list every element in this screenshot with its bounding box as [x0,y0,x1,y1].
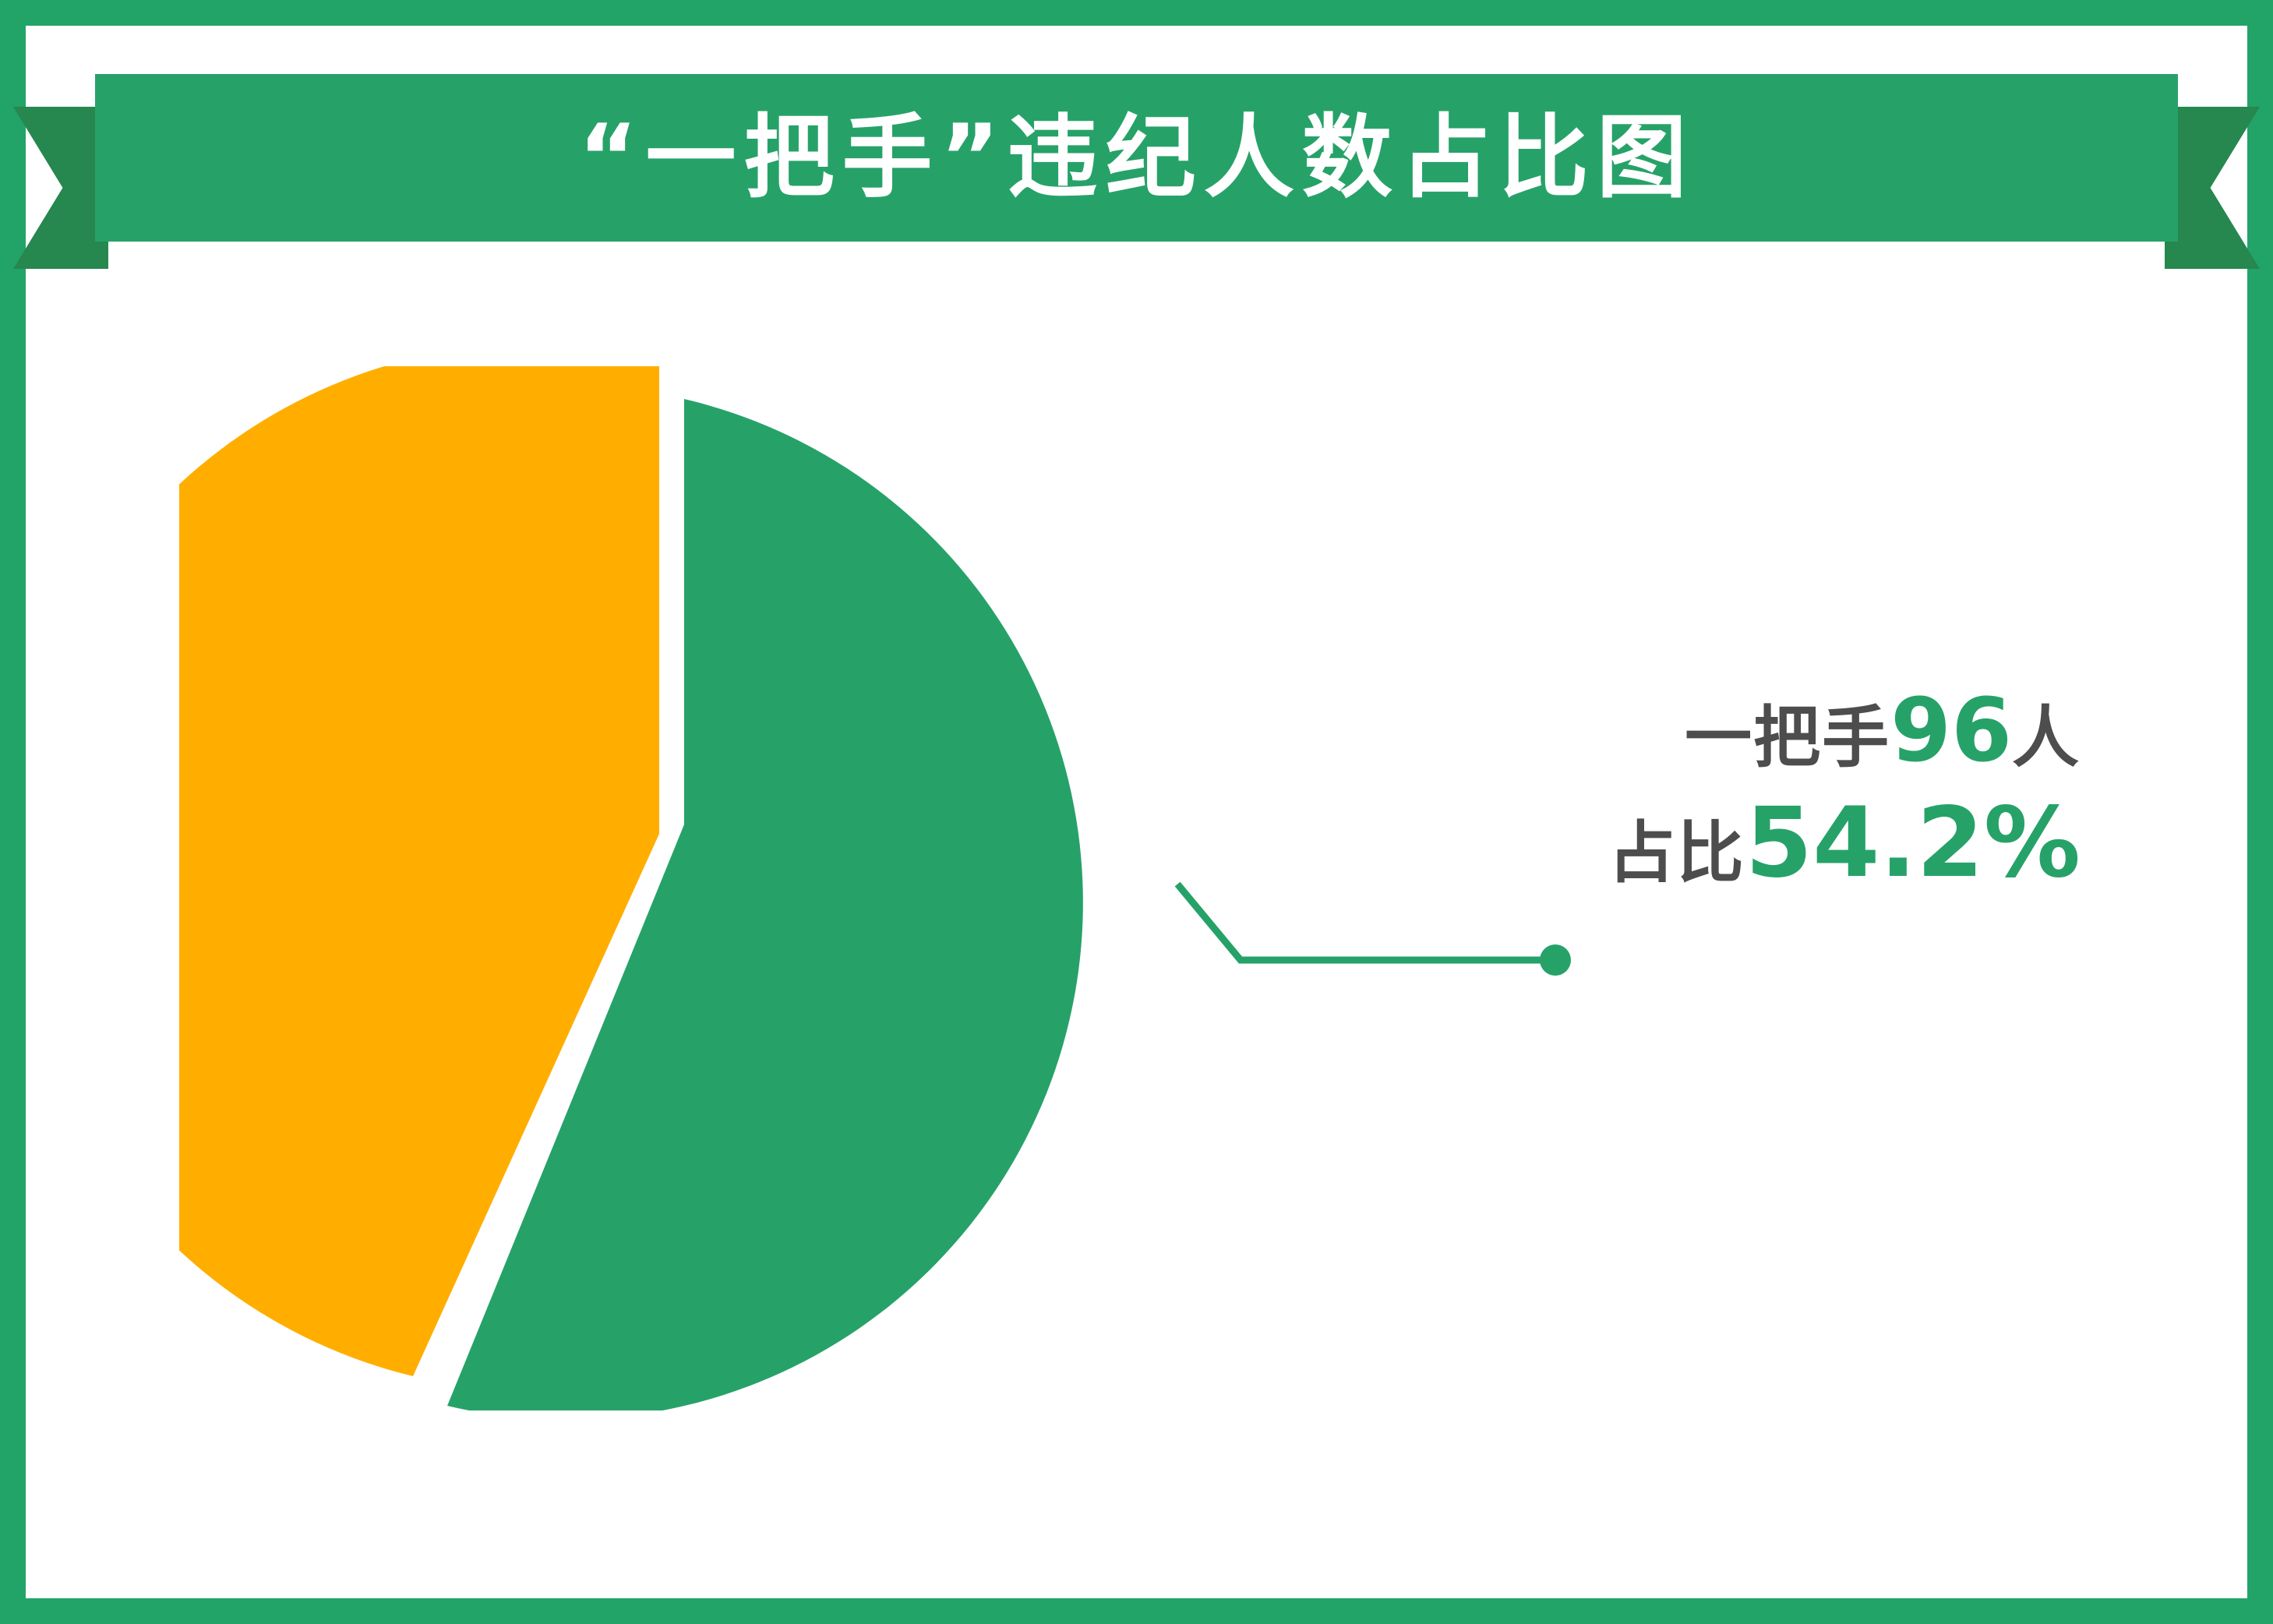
frame-border-right [2247,0,2273,1624]
leader-endpoint-dot [1540,944,1571,976]
pie-chart [179,366,1208,1410]
callout-percent-label: 占比 [1608,814,1745,892]
infographic-page: “一把手”违纪人数占比图 一把手96人 占比54.2% [0,0,2273,1624]
frame-border-bottom [0,1598,2273,1624]
callout-block: 一把手96人 占比54.2% [1597,686,2081,894]
callout-percent-unit: % [1984,787,2081,899]
ribbon-band: “一把手”违纪人数占比图 [95,74,2178,242]
page-title: “一把手”违纪人数占比图 [578,113,1694,203]
title-ribbon: “一把手”违纪人数占比图 [95,74,2178,242]
leader-polyline [1180,887,1551,960]
callout-count-value: 96 [1890,680,2012,782]
callout-leader-line [1153,849,1590,1005]
callout-percent-value: 54.2 [1745,787,1984,899]
ribbon-tail-left-icon [13,107,108,269]
callout-row-percent: 占比54.2% [1597,793,2081,894]
ribbon-tail-right-icon [2165,107,2260,269]
callout-row-count: 一把手96人 [1597,686,2081,776]
callout-count-unit: 人 [2012,699,2081,777]
frame-border-left [0,0,26,1624]
frame-border-top [0,0,2273,26]
callout-count-label: 一把手 [1685,699,1890,777]
pie-chart-svg [179,366,1208,1410]
